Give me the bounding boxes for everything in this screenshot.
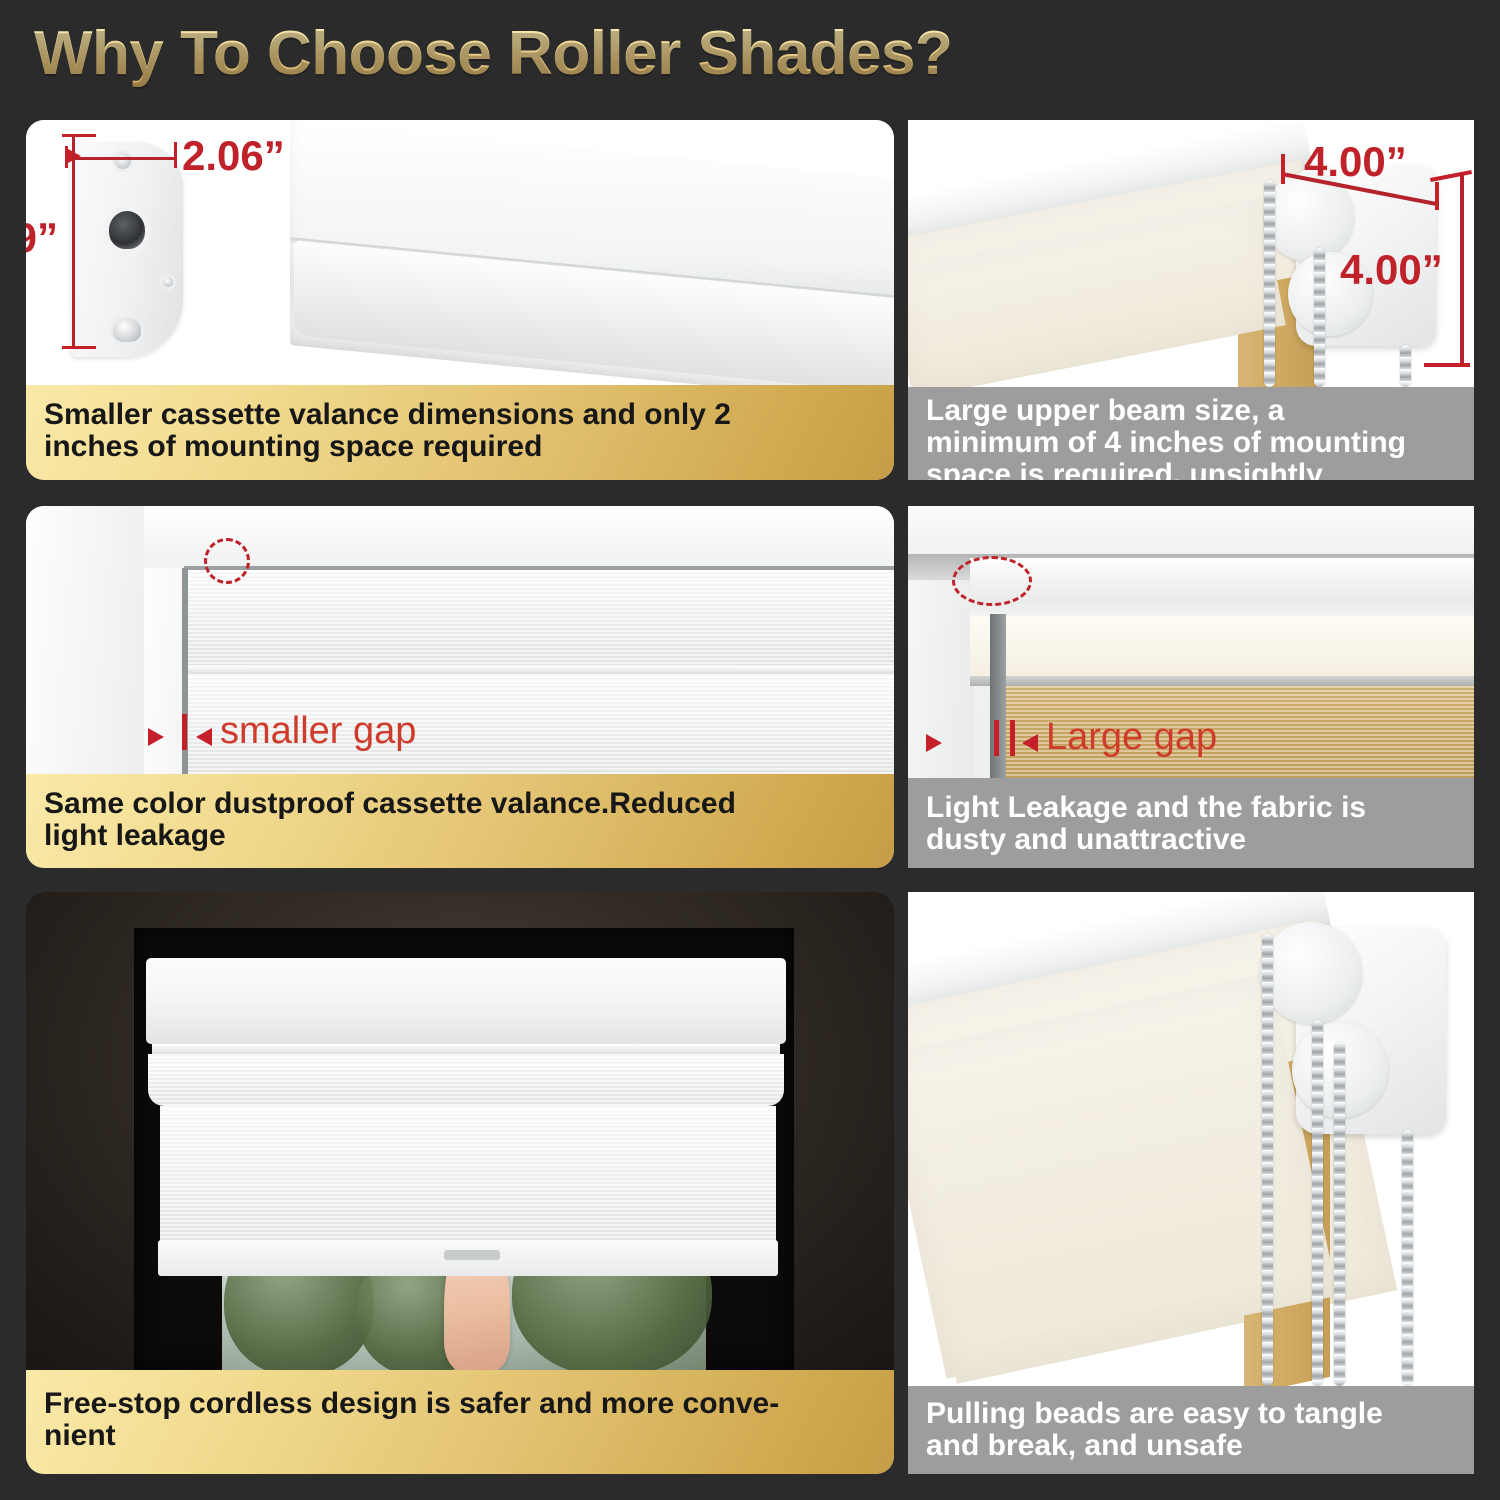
caption-line: nient [44, 1420, 779, 1452]
beam-width-dimension-label: 4.00” [1304, 138, 1407, 186]
valance-top-edge [184, 566, 894, 570]
caption-line: light leakage [44, 820, 736, 852]
caption-line: Light Leakage and the fabric is [926, 792, 1366, 824]
beam-width-tick-left [1281, 154, 1285, 184]
width-dimension-line [66, 157, 176, 160]
cassette-clutch-knob [104, 206, 150, 254]
bead-chain-3 [1400, 345, 1411, 387]
panel-2-photo: 4.00” 4.00” [908, 120, 1474, 387]
caption-line: Pulling beads are easy to tangle [926, 1398, 1383, 1430]
panel-6-caption: Pulling beads are easy to tangle and bre… [908, 1386, 1474, 1474]
beam-height-dimension-label: 4.00” [1340, 246, 1443, 294]
caption-line: space is required, unsightly [926, 459, 1406, 480]
bead-chain-2 [1314, 248, 1325, 387]
panel-6-photo [908, 892, 1474, 1386]
gap-marker-bar-1 [994, 720, 999, 756]
height-dim-tick-top [62, 134, 96, 137]
panel-3-photo: smaller gap [26, 506, 894, 774]
panel-large-upper-beam: 4.00” 4.00” Large upper beam size, a min… [908, 120, 1474, 480]
panel-1-photo: 2.06” 5.49” [26, 120, 894, 385]
window-frame-left [26, 506, 146, 774]
gap-arrow-left [148, 728, 164, 746]
beam-height-tick-top [1430, 170, 1472, 182]
cassette-valance-head [146, 958, 786, 1044]
valance-bottom-edge [970, 676, 1474, 686]
bottom-rail-grip [444, 1250, 500, 1260]
panel-3-caption: Same color dustproof cassette valance.Re… [26, 774, 894, 868]
page-title: Why To Choose Roller Shades? [34, 18, 952, 89]
panel-5-photo [26, 892, 894, 1370]
cassette-screw-mid [160, 274, 176, 290]
cassette-screw-bottom [110, 315, 144, 345]
gap-arrow-right [1022, 734, 1038, 752]
valance-face [970, 616, 1474, 678]
bead-chain-4 [1402, 1130, 1413, 1386]
window-frame-top [144, 506, 894, 568]
panel-4-photo: Large gap [908, 506, 1474, 778]
ceiling-strip [908, 506, 1474, 554]
caption-line: inches of mounting space required [44, 431, 731, 463]
height-dimension-line [72, 134, 75, 349]
panel-5-caption: Free-stop cordless design is safer and m… [26, 1370, 894, 1474]
gap-marker-bar [182, 714, 187, 750]
valance-lower-drum [148, 1054, 784, 1106]
width-dimension-label: 2.06” [182, 132, 285, 180]
panel-1-caption: Smaller cassette valance dimensions and … [26, 385, 894, 480]
caption-line: Free-stop cordless design is safer and m… [44, 1388, 779, 1420]
cassette-screw-top [112, 150, 134, 172]
bead-chain-3 [1334, 1042, 1345, 1386]
highlight-ring-large-gap [952, 556, 1032, 606]
caption-line: Large upper beam size, a [926, 395, 1406, 427]
panel-smaller-cassette: 2.06” 5.49” Smaller cassette valance dim… [26, 120, 894, 480]
panel-4-caption: Light Leakage and the fabric is dusty an… [908, 778, 1474, 868]
bead-chain-1 [1264, 180, 1275, 387]
panel-pulling-beads: Pulling beads are easy to tangle and bre… [908, 892, 1474, 1474]
gap-arrow-right [196, 728, 212, 746]
gap-marker-bar-2 [1010, 720, 1015, 756]
panel-free-stop-cordless: Free-stop cordless design is safer and m… [26, 892, 894, 1474]
bead-chain-2 [1312, 1020, 1323, 1386]
smaller-gap-label: smaller gap [220, 710, 416, 753]
height-dim-tick-bottom [62, 346, 96, 349]
highlight-ring-small-gap [204, 538, 250, 584]
width-dim-tick-right [174, 142, 177, 168]
panel-2-caption: Large upper beam size, a minimum of 4 in… [908, 387, 1474, 480]
shade-fabric-main [160, 1106, 776, 1248]
beam-width-tick-right [1435, 182, 1439, 210]
panel-dustproof-cassette: smaller gap Same color dustproof cassett… [26, 506, 894, 868]
bracket-disc-upper [1260, 922, 1362, 1024]
cassette-valance-front [184, 568, 894, 665]
beam-height-dimension-line [1460, 174, 1464, 366]
caption-line: Same color dustproof cassette valance.Re… [44, 788, 736, 820]
caption-line: dusty and unattractive [926, 824, 1366, 856]
beam-height-tick-bottom [1424, 363, 1470, 367]
height-dimension-label: 5.49” [26, 214, 58, 262]
valance-lower-lip [184, 666, 894, 674]
infographic-root: Why To Choose Roller Shades? 2.06” 5.49” [0, 0, 1500, 1500]
valance-beam [970, 558, 1474, 620]
panel-light-leakage: Large gap Light Leakage and the fabric i… [908, 506, 1474, 868]
caption-line: and break, and unsafe [926, 1430, 1383, 1462]
caption-line: minimum of 4 inches of mounting [926, 427, 1406, 459]
caption-line: Smaller cassette valance dimensions and … [44, 399, 731, 431]
gap-arrow-left [926, 734, 942, 752]
large-gap-label: Large gap [1046, 716, 1217, 759]
bead-chain-1 [1262, 934, 1273, 1386]
